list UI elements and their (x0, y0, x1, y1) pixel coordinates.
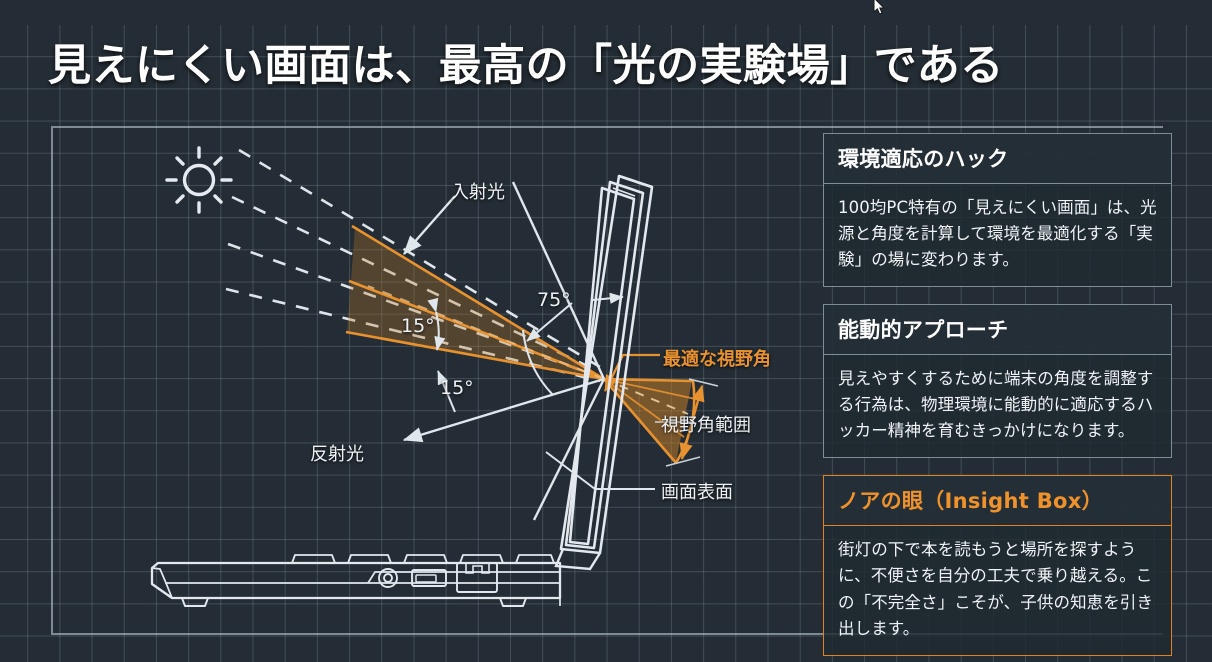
card-noah-eye-insight-box: ノアの眼（Insight Box） 街灯の下で本を読もうと場所を探すように、不便… (823, 475, 1172, 655)
insight-card-list: 環境適応のハック 100均PC特有の「見えにくい画面」は、光源と角度を計算して環… (823, 133, 1172, 662)
label-reflected-light: 反射光 (310, 440, 364, 466)
incident-light-arrow (404, 196, 455, 254)
mouse-cursor (873, 0, 886, 17)
card-title: 能動的アプローチ (824, 305, 1171, 355)
card-title: ノアの眼（Insight Box） (824, 476, 1171, 526)
card-title: 環境適応のハック (824, 134, 1171, 184)
label-angle-15-lower: 15° (440, 377, 474, 399)
card-active-approach: 能動的アプローチ 見えやすくするために端末の角度を調整する行為は、物理環境に能動… (823, 304, 1172, 458)
card-body: 街灯の下で本を読もうと場所を探すように、不便さを自分の工夫で乗り越える。この「不… (824, 526, 1171, 654)
label-optimal-viewing-angle: 最適な視野角 (663, 345, 771, 371)
laptop-ethernet-port-icon (457, 563, 497, 592)
laptop-base (152, 563, 560, 606)
angle-75-leader-right (593, 297, 623, 300)
sun-icon (167, 148, 231, 212)
label-angle-75: 75° (537, 289, 571, 311)
card-body: 100均PC特有の「見えにくい画面」は、光源と角度を計算して環境を最適化する「実… (824, 184, 1171, 286)
label-viewing-angle-range: 視野角範囲 (661, 411, 751, 437)
label-incident-light: 入射光 (451, 178, 505, 204)
laptop-keyboard-edge (292, 555, 554, 563)
card-environment-adaptation-hack: 環境適応のハック 100均PC特有の「見えにくい画面」は、光源と角度を計算して環… (823, 133, 1172, 287)
label-angle-15-upper: 15° (401, 315, 435, 337)
slide-canvas: 見えにくい画面は、最高の「光の実験場」である (0, 0, 1212, 662)
label-screen-surface: 画面表面 (661, 478, 733, 504)
card-body: 見えやすくするために端末の角度を調整する行為は、物理環境に能動的に適応するハッカ… (824, 355, 1171, 457)
